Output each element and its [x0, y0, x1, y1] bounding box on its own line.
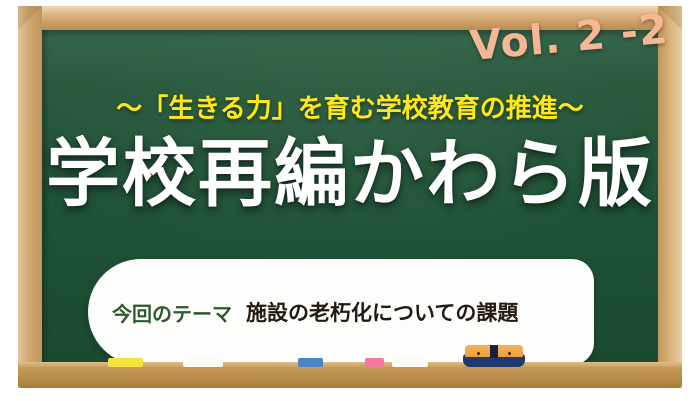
chalk-blue — [298, 358, 323, 367]
chalk-white-2 — [392, 358, 428, 367]
chalkboard-poster: Vol. 2 -2 〜「生きる力」を育む学校教育の推進〜 学校再編かわら版 今回… — [0, 0, 700, 401]
poster-subtitle: 〜「生きる力」を育む学校教育の推進〜 — [0, 88, 700, 125]
chalk-pink — [365, 358, 384, 367]
chalk-white-1 — [183, 358, 223, 367]
theme-label: 今回のテーマ — [112, 298, 232, 327]
eraser-stud-right — [508, 352, 511, 355]
eraser-strap — [490, 345, 498, 358]
blackboard-eraser — [463, 345, 525, 367]
chalk-yellow — [108, 358, 143, 367]
theme-value: 施設の老朽化についての課題 — [246, 297, 518, 327]
poster-title: 学校再編かわら版 — [0, 136, 700, 214]
eraser-stud-left — [477, 352, 480, 355]
